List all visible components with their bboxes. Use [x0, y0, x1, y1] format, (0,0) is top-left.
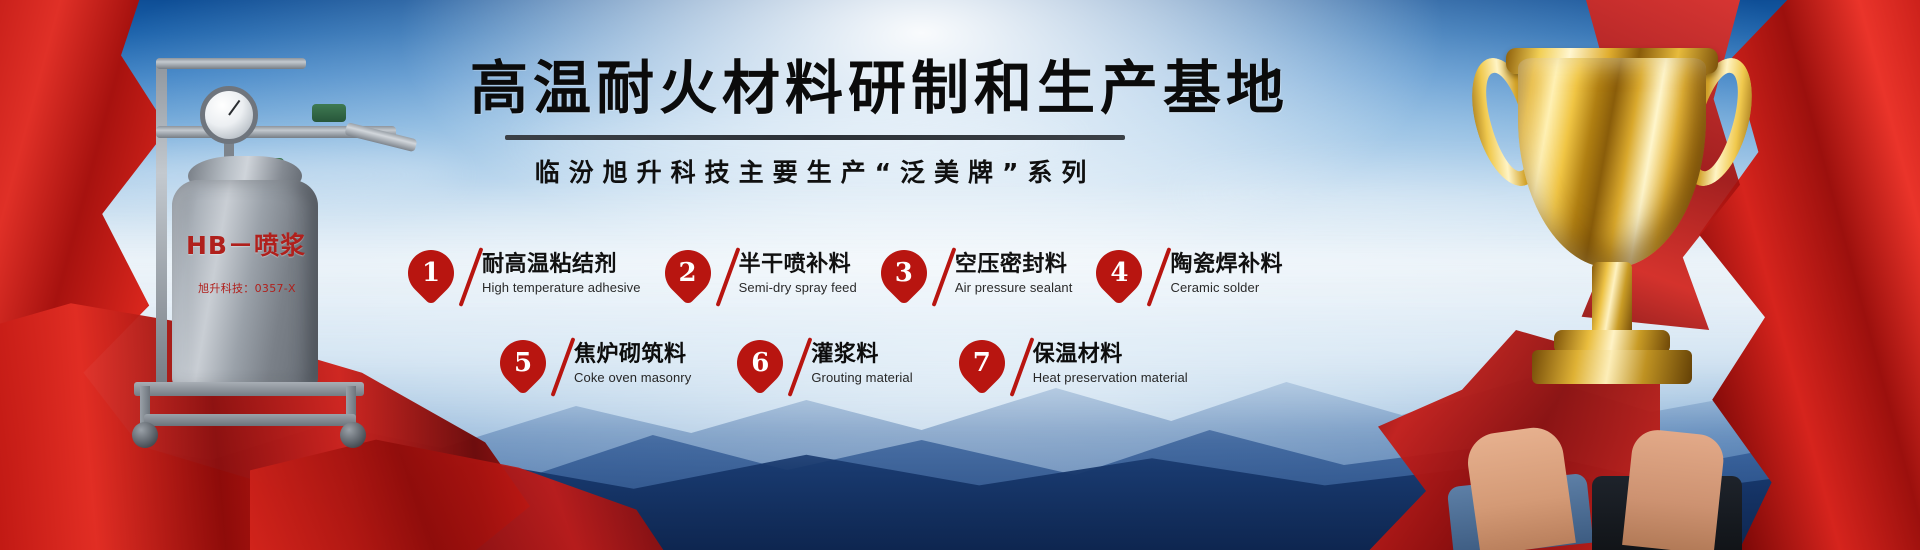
slash-icon [456, 250, 482, 308]
feature-title-en: Grouting material [811, 370, 912, 385]
feature-text: 灌浆料 Grouting material [811, 340, 912, 385]
feature-text: 耐高温粘结剂 High temperature adhesive [482, 250, 641, 295]
banner-subtitle: 临汾旭升科技主要生产“泛美牌”系列 [470, 153, 1160, 189]
pressure-gauge-icon [200, 86, 258, 144]
feature-number: 1 [408, 250, 454, 296]
badge-pin-icon: 2 [665, 250, 713, 304]
feature-item-2[interactable]: 2 半干喷补料 Semi-dry spray feed [665, 250, 857, 308]
cart-frame-bottom [144, 414, 356, 426]
headline-block: 高温耐火材料研制和生产基地 临汾旭升科技主要生产“泛美牌”系列 [470, 58, 1160, 189]
feature-list: 1 耐高温粘结剂 High temperature adhesive 2 半干喷… [408, 250, 1208, 398]
promo-banner: HB－喷浆 旭升科技：0357-X 高温耐火材料研制和生产基地 临汾旭升科技主要… [0, 0, 1920, 550]
product-sub-label: 旭升科技：0357-X [172, 280, 322, 296]
feature-item-6[interactable]: 6 灌浆料 Grouting material [737, 340, 912, 398]
feature-row-2: 5 焦炉砌筑料 Coke oven masonry 6 灌浆料 Grouting… [500, 340, 1208, 398]
feature-title-cn: 陶瓷焊补料 [1170, 252, 1283, 277]
feature-item-4[interactable]: 4 陶瓷焊补料 Ceramic solder [1096, 250, 1283, 308]
machine-pipe-vertical [156, 58, 167, 388]
feature-title-cn: 保温材料 [1033, 342, 1188, 367]
feature-number: 2 [665, 250, 711, 296]
badge-pin-icon: 1 [408, 250, 456, 304]
feature-text: 陶瓷焊补料 Ceramic solder [1170, 250, 1283, 295]
banner-title: 高温耐火材料研制和生产基地 [470, 58, 1160, 119]
slash-icon [1144, 250, 1170, 308]
slash-icon [785, 340, 811, 398]
product-label: HB－喷浆 [182, 226, 310, 262]
feature-text: 空压密封料 Air pressure sealant [955, 250, 1073, 295]
title-divider [505, 135, 1125, 140]
badge-pin-icon: 6 [737, 340, 785, 394]
feature-number: 7 [959, 340, 1005, 386]
feature-item-1[interactable]: 1 耐高温粘结剂 High temperature adhesive [408, 250, 641, 308]
feature-number: 4 [1096, 250, 1142, 296]
feature-row-1: 1 耐高温粘结剂 High temperature adhesive 2 半干喷… [408, 250, 1208, 308]
feature-title-en: Semi-dry spray feed [739, 280, 857, 295]
feature-number: 6 [737, 340, 783, 386]
feature-title-cn: 耐高温粘结剂 [482, 252, 641, 277]
badge-pin-icon: 3 [881, 250, 929, 304]
feature-title-en: Ceramic solder [1170, 280, 1283, 295]
feature-title-cn: 焦炉砌筑料 [574, 342, 691, 367]
feature-item-5[interactable]: 5 焦炉砌筑料 Coke oven masonry [500, 340, 691, 398]
trophy-base-lower [1532, 350, 1692, 384]
feature-title-en: High temperature adhesive [482, 280, 641, 295]
cart-frame-top [134, 382, 364, 396]
slash-icon [548, 340, 574, 398]
machine-handle-bar [156, 58, 306, 69]
badge-pin-icon: 4 [1096, 250, 1144, 304]
badge-pin-icon: 7 [959, 340, 1007, 394]
hand-right [1622, 428, 1726, 550]
feature-title-cn: 灌浆料 [811, 342, 912, 367]
trophy-bowl [1518, 58, 1706, 268]
trophy-stem [1592, 262, 1632, 336]
feature-title-en: Heat preservation material [1033, 370, 1188, 385]
feature-title-cn: 空压密封料 [955, 252, 1073, 277]
spray-machine-product: HB－喷浆 旭升科技：0357-X [96, 30, 396, 430]
feature-number: 5 [500, 340, 546, 386]
feature-item-7[interactable]: 7 保温材料 Heat preservation material [959, 340, 1188, 398]
badge-pin-icon: 5 [500, 340, 548, 394]
cart-wheel-left [132, 422, 158, 448]
feature-text: 半干喷补料 Semi-dry spray feed [739, 250, 857, 295]
gold-trophy-icon [1482, 12, 1742, 432]
feature-title-en: Air pressure sealant [955, 280, 1073, 295]
cart-wheel-right [340, 422, 366, 448]
feature-text: 保温材料 Heat preservation material [1033, 340, 1188, 385]
feature-number: 3 [881, 250, 927, 296]
machine-valve-top [312, 104, 346, 122]
slash-icon [1007, 340, 1033, 398]
hand-left [1464, 424, 1576, 550]
feature-title-en: Coke oven masonry [574, 370, 691, 385]
slash-icon [929, 250, 955, 308]
feature-title-cn: 半干喷补料 [739, 252, 857, 277]
feature-text: 焦炉砌筑料 Coke oven masonry [574, 340, 691, 385]
slash-icon [713, 250, 739, 308]
feature-item-3[interactable]: 3 空压密封料 Air pressure sealant [881, 250, 1073, 308]
